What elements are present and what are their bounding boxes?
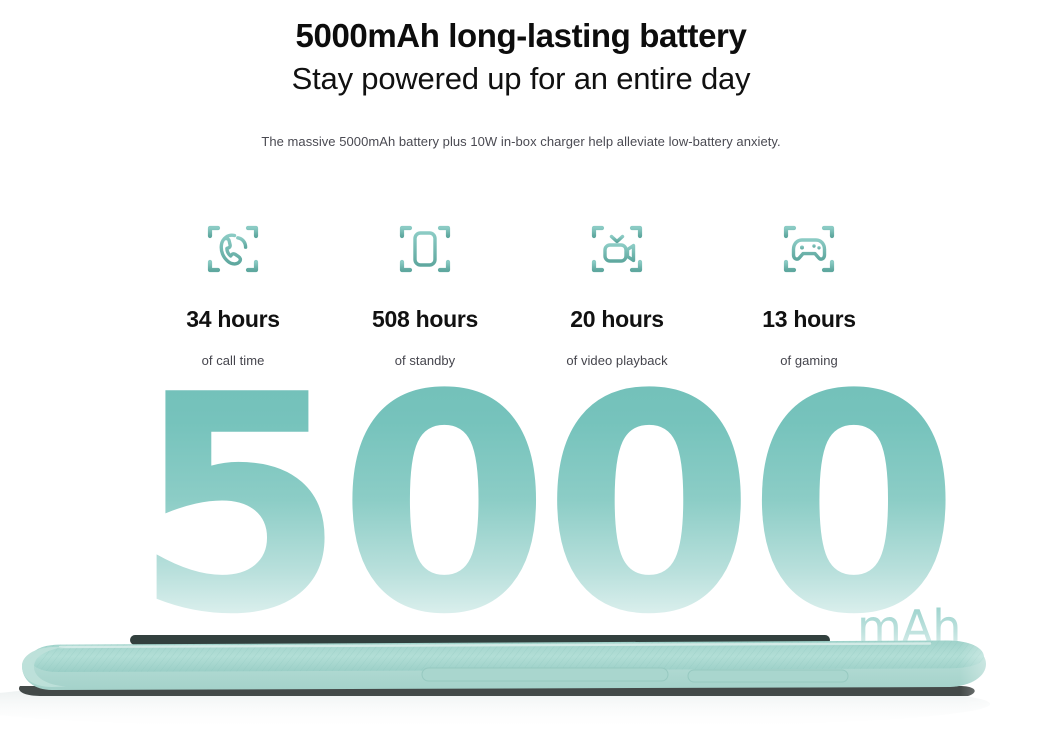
stat-value: 20 hours (521, 306, 713, 333)
page-title: 5000mAh long-lasting battery (0, 16, 1042, 57)
stat-item-gaming: 13 hours of gaming (713, 206, 905, 368)
stat-label: of call time (137, 353, 329, 368)
stat-item-call-time: 34 hours of call time (137, 206, 329, 368)
stat-value: 13 hours (713, 306, 905, 333)
page-description: The massive 5000mAh battery plus 10W in-… (0, 134, 1042, 149)
stat-item-video-playback: 20 hours of video playback (521, 206, 713, 368)
battery-feature-page: 5000mAh long-lasting battery Stay powere… (0, 0, 1042, 749)
stat-value: 34 hours (137, 306, 329, 333)
stat-label: of standby (329, 353, 521, 368)
gamepad-icon (766, 206, 852, 292)
header: 5000mAh long-lasting battery Stay powere… (0, 16, 1042, 100)
stats-row: 34 hours of call time (137, 206, 905, 368)
product-phone-image (0, 600, 1042, 749)
stat-value: 508 hours (329, 306, 521, 333)
stat-item-standby: 508 hours of standby (329, 206, 521, 368)
stat-label: of video playback (521, 353, 713, 368)
page-subtitle: Stay powered up for an entire day (0, 59, 1042, 100)
phone-call-icon (190, 206, 276, 292)
smartphone-standby-icon (382, 206, 468, 292)
stat-label: of gaming (713, 353, 905, 368)
video-camera-icon (574, 206, 660, 292)
